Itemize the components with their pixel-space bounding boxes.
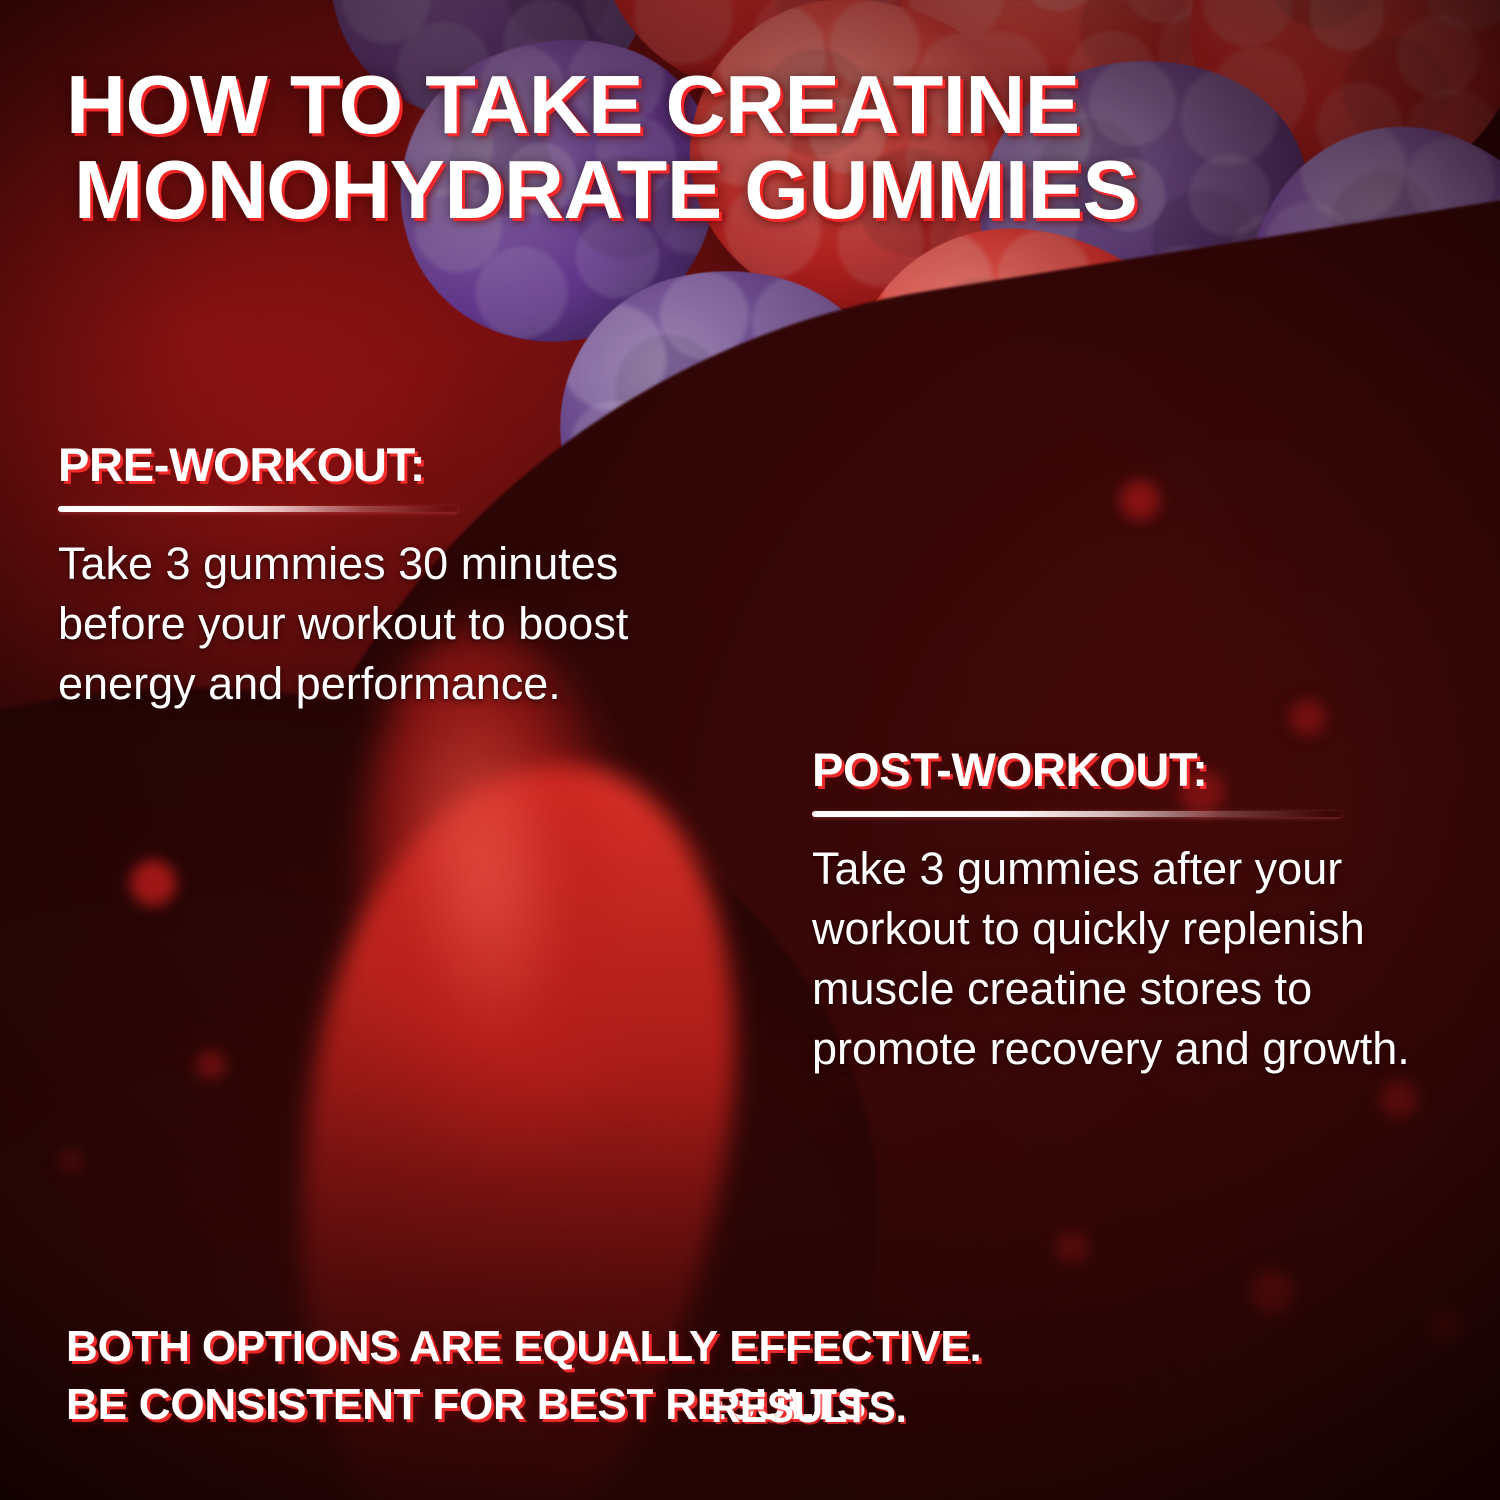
pre-workout-body: Take 3 gummies 30 minutes before your wo… bbox=[58, 534, 758, 714]
post-workout-heading: POST-WORKOUT: bbox=[812, 742, 1472, 797]
post-workout-block: POST-WORKOUT: Take 3 gummies after your … bbox=[812, 742, 1472, 1078]
title-line-1: HOW TO TAKE CREATINE bbox=[66, 58, 1080, 151]
footer-note: BOTH OPTIONS ARE EQUALLY EFFECTIVE. BE C… bbox=[66, 1318, 1426, 1434]
footer-glitch-word: RESULTS.RESULTS. bbox=[665, 1376, 878, 1434]
post-workout-body: Take 3 gummies after your workout to qui… bbox=[812, 839, 1472, 1078]
pre-workout-heading: PRE-WORKOUT: bbox=[58, 437, 758, 492]
post-workout-underline bbox=[812, 811, 1342, 817]
pre-workout-block: PRE-WORKOUT: Take 3 gummies 30 minutes b… bbox=[58, 437, 758, 714]
title-line-2: MONOHYDRATE GUMMIES bbox=[66, 147, 1396, 232]
footer-line-2-prefix: BE CONSISTENT FOR BEST bbox=[66, 1380, 665, 1429]
content-layer: HOW TO TAKE CREATINE MONOHYDRATE GUMMIES… bbox=[0, 0, 1500, 1500]
footer-glitch-layer-b: RESULTS. bbox=[711, 1379, 907, 1437]
footer-line-2: BE CONSISTENT FOR BEST RESULTS.RESULTS. bbox=[66, 1376, 1426, 1434]
pre-workout-underline bbox=[58, 506, 458, 512]
poster-canvas: HOW TO TAKE CREATINE MONOHYDRATE GUMMIES… bbox=[0, 0, 1500, 1500]
page-title: HOW TO TAKE CREATINE MONOHYDRATE GUMMIES bbox=[66, 62, 1396, 233]
footer-line-1: BOTH OPTIONS ARE EQUALLY EFFECTIVE. bbox=[66, 1318, 1426, 1376]
